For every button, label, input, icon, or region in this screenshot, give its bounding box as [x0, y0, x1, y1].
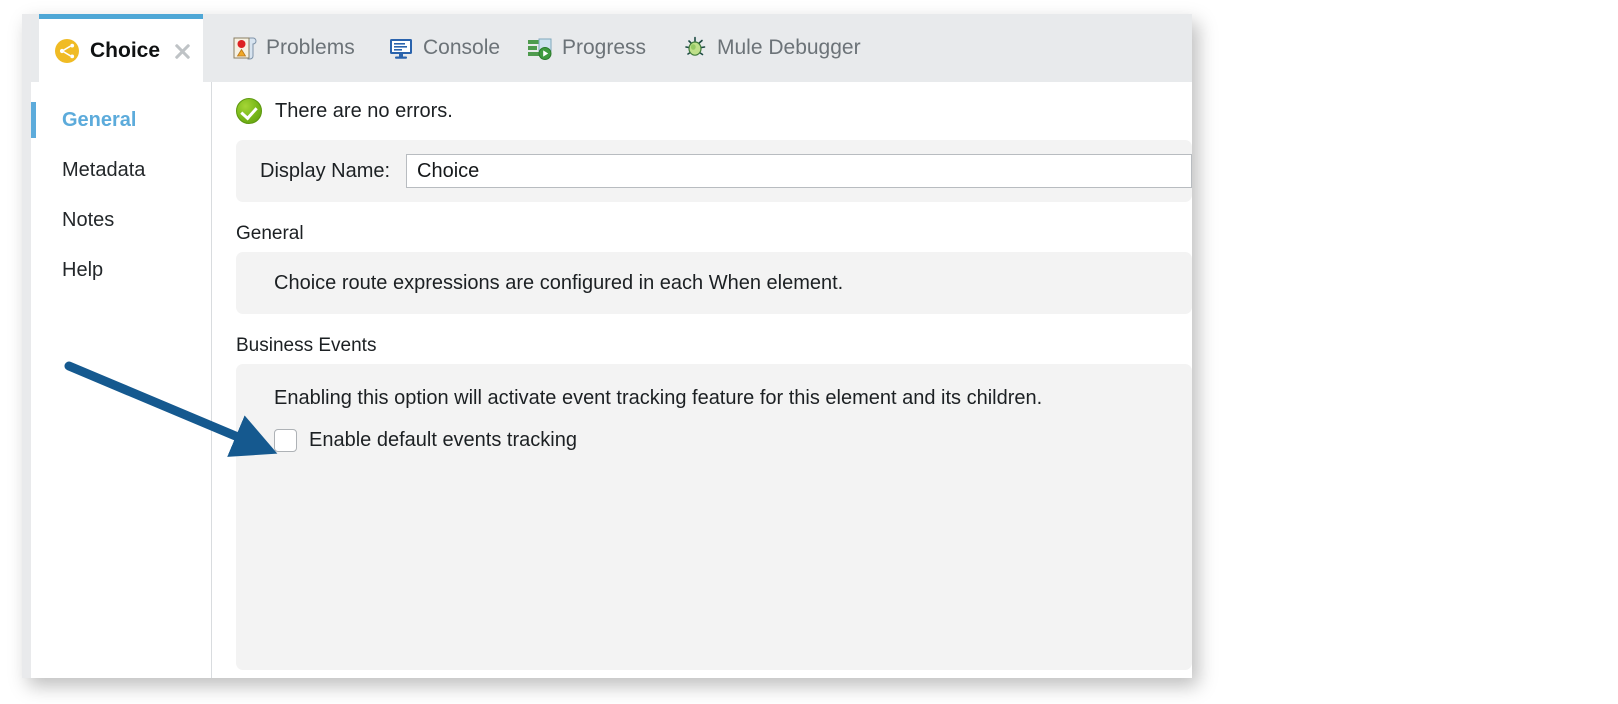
- tab-problems[interactable]: Problems: [217, 14, 369, 82]
- tab-console[interactable]: Console: [374, 14, 514, 82]
- tab-progress[interactable]: Progress: [513, 14, 660, 82]
- sidebar-item-notes-label: Notes: [62, 209, 114, 232]
- display-name-row: Display Name: Choice: [236, 140, 1192, 202]
- general-description: Choice route expressions are configured …: [274, 272, 843, 295]
- display-name-value: Choice: [417, 160, 479, 183]
- business-events-description: Enabling this option will activate event…: [274, 386, 1192, 410]
- sidebar-item-help-label: Help: [62, 259, 103, 282]
- screenshot-canvas: Choice Problems: [0, 0, 1618, 704]
- display-name-label: Display Name:: [260, 160, 390, 183]
- tab-mule-debugger[interactable]: Mule Debugger: [668, 14, 875, 82]
- bug-icon: [682, 35, 708, 61]
- properties-sidebar: General Metadata Notes Help: [31, 82, 212, 678]
- enable-default-events-tracking-label: Enable default events tracking: [309, 429, 577, 452]
- display-name-input[interactable]: Choice: [406, 154, 1192, 188]
- console-icon: [388, 35, 414, 61]
- properties-window: Choice Problems: [22, 14, 1192, 678]
- sidebar-item-metadata[interactable]: Metadata: [31, 145, 211, 195]
- sidebar-item-general-label: General: [62, 109, 136, 132]
- status-message: There are no errors.: [275, 100, 453, 123]
- sidebar-item-general[interactable]: General: [31, 95, 211, 145]
- tab-mule-debugger-label: Mule Debugger: [717, 36, 861, 60]
- window-left-gutter: [22, 14, 31, 678]
- enable-default-events-tracking-row[interactable]: Enable default events tracking: [274, 429, 1192, 452]
- general-section-title: General: [236, 223, 1192, 245]
- general-section-panel: Choice route expressions are configured …: [236, 252, 1192, 314]
- properties-content: There are no errors. Display Name: Choic…: [212, 82, 1192, 678]
- properties-body: General Metadata Notes Help: [31, 82, 1192, 678]
- tab-progress-label: Progress: [562, 36, 646, 60]
- tab-problems-label: Problems: [266, 36, 355, 60]
- problems-icon: [231, 35, 257, 61]
- enable-default-events-tracking-checkbox[interactable]: [274, 429, 297, 452]
- close-icon[interactable]: [172, 41, 192, 61]
- business-events-section-title: Business Events: [236, 335, 1192, 357]
- sidebar-item-notes[interactable]: Notes: [31, 195, 211, 245]
- tab-choice[interactable]: Choice: [39, 14, 203, 82]
- success-check-icon: [236, 98, 262, 124]
- sidebar-item-metadata-label: Metadata: [62, 159, 145, 182]
- tab-console-label: Console: [423, 36, 500, 60]
- progress-icon: [527, 35, 553, 61]
- status-row: There are no errors.: [212, 82, 1192, 140]
- choice-icon: [54, 38, 80, 64]
- business-events-panel: Enabling this option will activate event…: [236, 364, 1192, 670]
- tab-bar: Choice Problems: [31, 14, 1192, 83]
- sidebar-item-help[interactable]: Help: [31, 245, 211, 295]
- tab-choice-label: Choice: [90, 39, 160, 63]
